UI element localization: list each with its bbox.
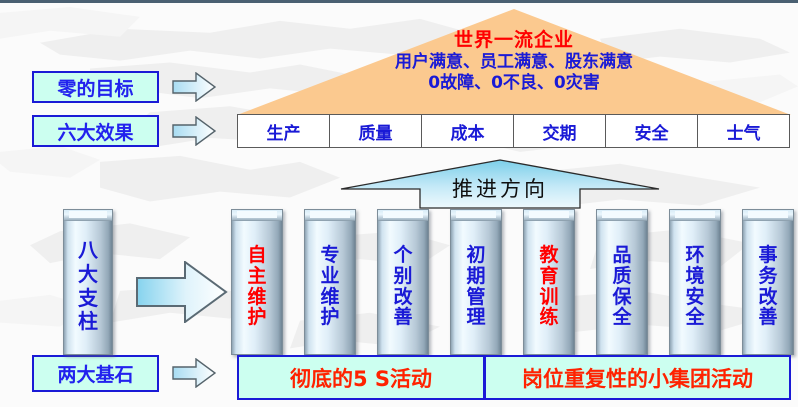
arrow-right-icon-zero-goal — [172, 72, 216, 102]
pillar-char: 善 — [758, 307, 777, 328]
pillar-body: 品 质 保 全 — [596, 209, 648, 355]
pillar-char: 事 — [758, 245, 777, 266]
effect-cell-morale[interactable]: 士气 — [698, 115, 789, 147]
pillar-early-management[interactable]: 初 期 管 理 — [450, 209, 502, 355]
pillar-char: 质 — [612, 266, 631, 287]
tpm-diagram: 世界一流企业 用户满意、员工满意、股东满意 0故障、0不良、0灾害 生产 质量 … — [0, 0, 798, 407]
pillar-cap — [232, 210, 282, 221]
pillar-char: 自 — [247, 245, 266, 266]
pillar-char: 八 — [78, 239, 98, 263]
effect-cell-safety[interactable]: 安全 — [606, 115, 698, 147]
pillar-char: 初 — [466, 245, 485, 266]
pillar-char: 教 — [539, 245, 558, 266]
pillar-cap — [305, 210, 355, 221]
pillar-char: 大 — [78, 263, 98, 287]
pillar-cap — [670, 210, 720, 221]
pillar-cap — [524, 210, 574, 221]
pillar-cap — [597, 210, 647, 221]
pillar-body: 初 期 管 理 — [450, 209, 502, 355]
pillar-autonomous-maintenance[interactable]: 自 主 维 护 — [231, 209, 283, 355]
effect-cell-delivery[interactable]: 交期 — [514, 115, 606, 147]
pillar-label-vertical: 事 务 改 善 — [743, 223, 793, 350]
pillar-administrative-improvement[interactable]: 事 务 改 善 — [742, 209, 794, 355]
pillar-char: 护 — [320, 307, 339, 328]
pillar-individual-improvement[interactable]: 个 别 改 善 — [377, 209, 429, 355]
effect-cell-quality[interactable]: 质量 — [330, 115, 422, 147]
pillar-char: 个 — [393, 245, 412, 266]
foundation-small-group-activity[interactable]: 岗位重复性的小集团活动 — [485, 355, 791, 400]
pillar-char: 维 — [247, 287, 266, 308]
pillar-char: 安 — [685, 287, 704, 308]
pillar-char: 改 — [758, 287, 777, 308]
pillar-char: 全 — [612, 307, 631, 328]
pillar-cap — [743, 210, 793, 221]
pillar-char: 保 — [612, 287, 631, 308]
promotion-direction-banner — [340, 159, 660, 209]
pillar-eight-pillars-label[interactable]: 八 大 支 柱 — [63, 209, 113, 355]
pillar-char: 善 — [393, 307, 412, 328]
pillar-label-vertical: 教 育 训 练 — [524, 223, 574, 350]
arrow-right-icon-six-effects — [172, 116, 216, 146]
pillar-label-vertical: 专 业 维 护 — [305, 223, 355, 350]
pillar-char: 专 — [320, 245, 339, 266]
pillar-body: 八 大 支 柱 — [63, 209, 113, 355]
pillar-char: 业 — [320, 266, 339, 287]
pillar-quality-maintenance[interactable]: 品 质 保 全 — [596, 209, 648, 355]
pillar-char: 别 — [393, 266, 412, 287]
arrow-right-icon-eight-pillars — [136, 261, 228, 323]
eight-pillars-row: 自 主 维 护 专 业 维 护 — [231, 209, 793, 355]
pillar-label-vertical: 个 别 改 善 — [378, 223, 428, 350]
pillar-char: 境 — [685, 266, 704, 287]
pillar-label-vertical: 初 期 管 理 — [451, 223, 501, 350]
pillar-body: 事 务 改 善 — [742, 209, 794, 355]
pillar-char: 训 — [539, 287, 558, 308]
pillar-cap — [64, 210, 112, 221]
pillar-char: 育 — [539, 266, 558, 287]
pillar-char: 练 — [539, 307, 558, 328]
pillar-char: 环 — [685, 245, 704, 266]
pillar-char: 护 — [247, 307, 266, 328]
pillar-body: 个 别 改 善 — [377, 209, 429, 355]
pillar-char: 主 — [247, 266, 266, 287]
pillar-char: 务 — [758, 266, 777, 287]
pillar-cap — [378, 210, 428, 221]
six-effects-table: 生产 质量 成本 交期 安全 士气 — [237, 114, 790, 148]
pillar-cap — [451, 210, 501, 221]
roof-triangle — [237, 9, 791, 115]
label-zero-goal[interactable]: 零的目标 — [32, 71, 159, 103]
pillar-char: 柱 — [78, 310, 98, 334]
pillar-environment-safety[interactable]: 环 境 安 全 — [669, 209, 721, 355]
pillar-label-vertical: 品 质 保 全 — [597, 223, 647, 350]
pillar-char: 支 — [78, 287, 98, 311]
pillar-char: 全 — [685, 307, 704, 328]
label-two-cornerstones[interactable]: 两大基石 — [32, 355, 159, 392]
foundation-5s-activity[interactable]: 彻底的5 S活动 — [237, 355, 485, 400]
pillar-professional-maintenance[interactable]: 专 业 维 护 — [304, 209, 356, 355]
pillar-education-training[interactable]: 教 育 训 练 — [523, 209, 575, 355]
pillar-body: 环 境 安 全 — [669, 209, 721, 355]
pillar-char: 理 — [466, 307, 485, 328]
effect-cell-production[interactable]: 生产 — [238, 115, 330, 147]
pillar-label-vertical: 自 主 维 护 — [232, 223, 282, 350]
effect-cell-cost[interactable]: 成本 — [422, 115, 514, 147]
pillar-char: 维 — [320, 287, 339, 308]
pillar-body: 专 业 维 护 — [304, 209, 356, 355]
arrow-right-icon-cornerstones — [172, 358, 216, 388]
pillar-char: 品 — [612, 245, 631, 266]
label-six-effects[interactable]: 六大效果 — [32, 115, 159, 147]
pillar-char: 改 — [393, 287, 412, 308]
pillar-body: 自 主 维 护 — [231, 209, 283, 355]
pillar-char: 期 — [466, 266, 485, 287]
pillar-label-vertical: 八 大 支 柱 — [64, 223, 112, 350]
pillar-char: 管 — [466, 287, 485, 308]
pillar-body: 教 育 训 练 — [523, 209, 575, 355]
pillar-label-vertical: 环 境 安 全 — [670, 223, 720, 350]
